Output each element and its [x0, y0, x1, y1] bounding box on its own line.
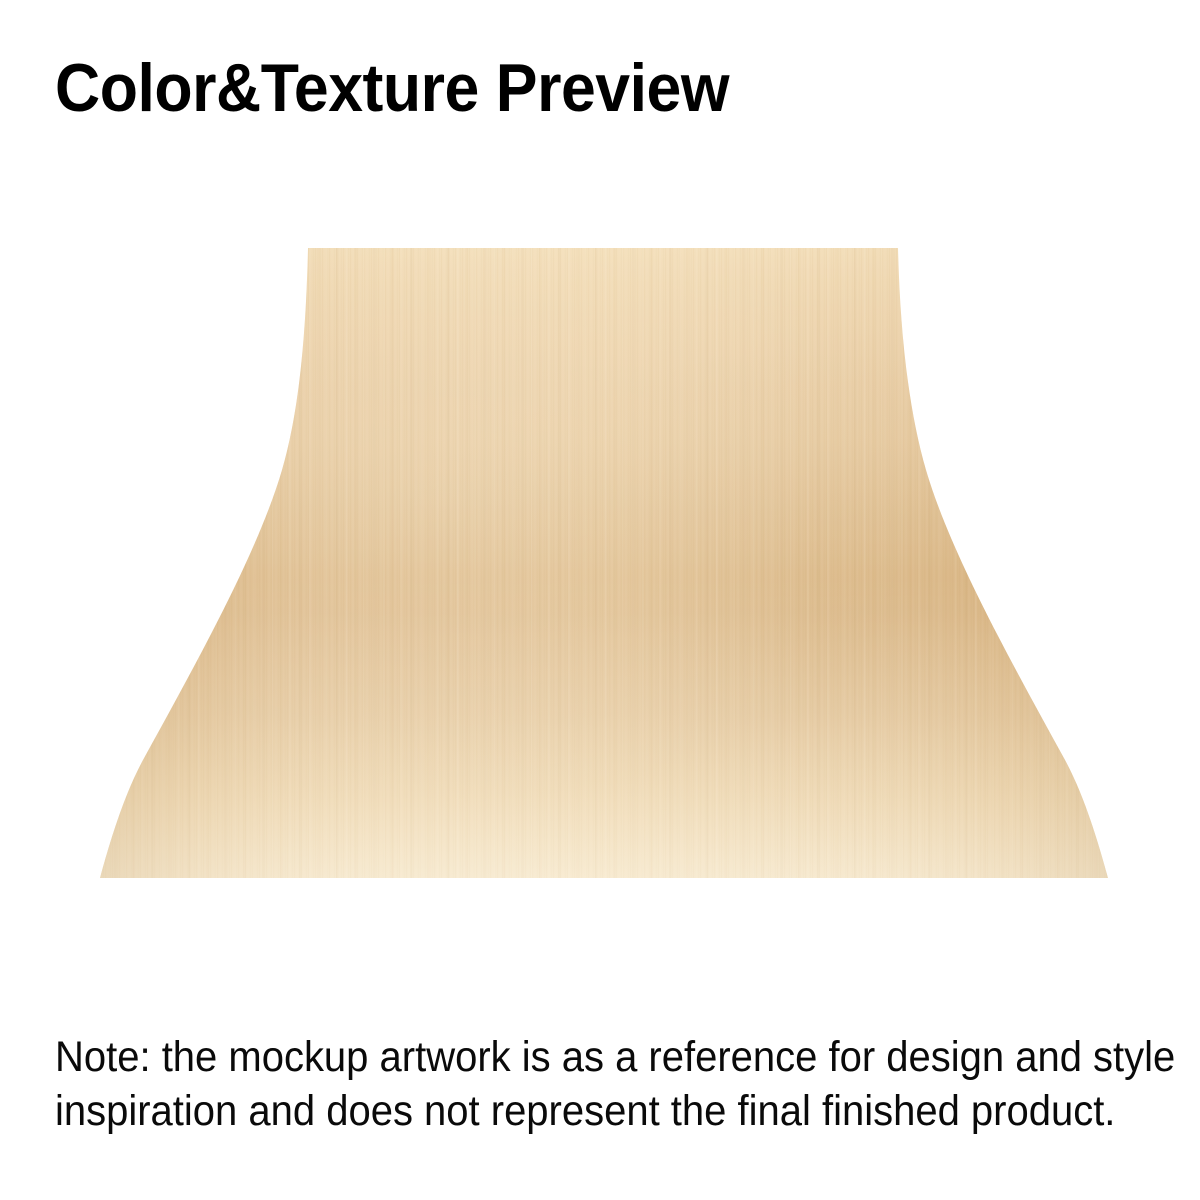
disclaimer-note: Note: the mockup artwork is as a referen… [55, 1030, 1097, 1138]
color-texture-swatch [0, 0, 1200, 1200]
disclaimer-note-line-1: Note: the mockup artwork is as a referen… [55, 1030, 1097, 1084]
swatch-container [0, 0, 1200, 1200]
swatch-grain-fine [100, 248, 1108, 878]
swatch-base-color [100, 248, 1108, 878]
swatch-clouding-dark [100, 248, 1108, 878]
page-title: Color&Texture Preview [55, 49, 1067, 127]
swatch-edge-shading [100, 248, 1108, 878]
disclaimer-note-line-2: inspiration and does not represent the f… [55, 1084, 1097, 1138]
swatch-clouding-light [100, 248, 1108, 878]
swatch-grain-wide [100, 248, 1108, 878]
swatch-fill-group [100, 248, 1108, 878]
color-texture-preview-page: Color&Texture Preview [0, 0, 1200, 1200]
swatch-sheen [100, 248, 1108, 878]
